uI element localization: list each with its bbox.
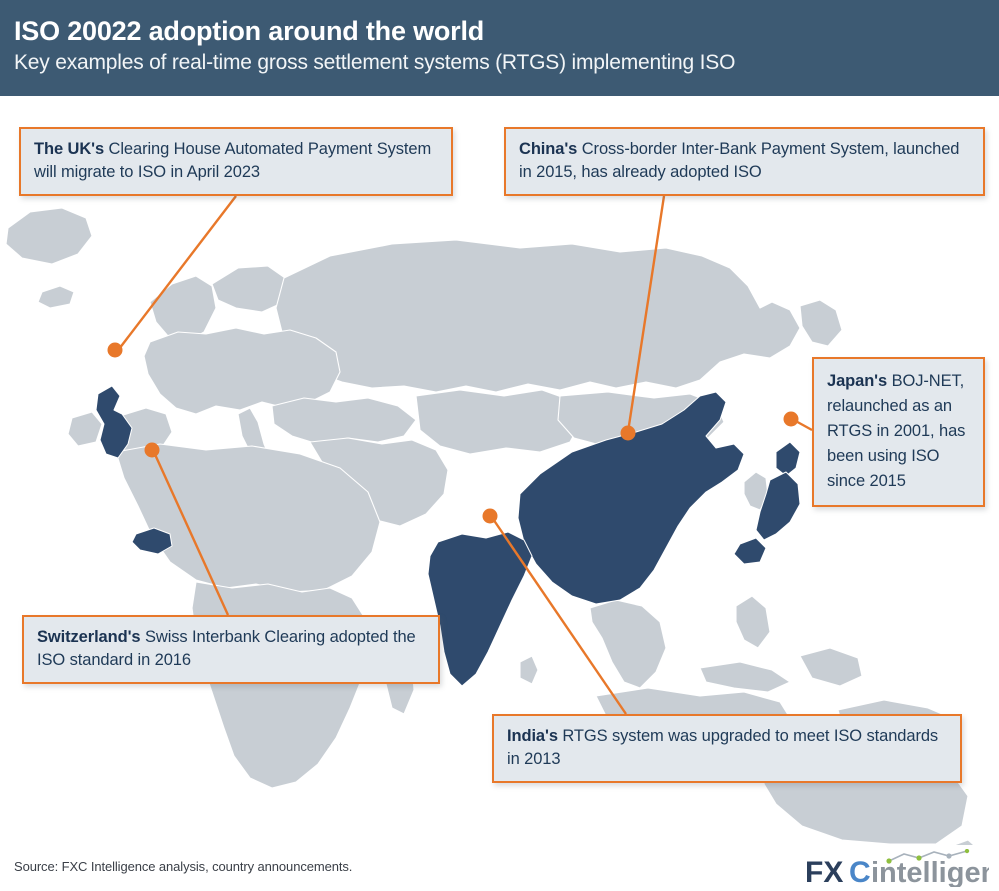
land-ireland (68, 412, 102, 446)
callout-country-india: India's (507, 727, 558, 745)
callout-text-china: Cross-border Inter-Bank Payment System, … (519, 140, 959, 181)
land-central-asia (416, 390, 582, 454)
header-banner: ISO 20022 adoption around the world Key … (0, 0, 999, 96)
callout-box-china[interactable]: China's Cross-border Inter-Bank Payment … (504, 127, 985, 196)
page-subtitle: Key examples of real-time gross settleme… (14, 49, 999, 77)
logo-text-c: C (849, 856, 871, 887)
callout-country-switzerland: Switzerland's (37, 628, 141, 646)
logo-dot-green-3 (965, 849, 969, 853)
logo-text-fx: FX (805, 856, 843, 887)
callout-country-uk: The UK's (34, 140, 104, 158)
callout-box-switzerland[interactable]: Switzerland's Swiss Interbank Clearing a… (22, 615, 440, 684)
callout-country-japan: Japan's (827, 372, 887, 390)
callout-box-japan[interactable]: Japan's BOJ-NET, relaunched as an RTGS i… (812, 357, 985, 507)
footer-bar: Source: FXC Intelligence analysis, count… (0, 845, 999, 891)
callout-box-uk[interactable]: The UK's Clearing House Automated Paymen… (19, 127, 453, 196)
callout-text-india: RTGS system was upgraded to meet ISO sta… (507, 727, 938, 768)
fxc-intelligence-logo: FX C intelligence (771, 849, 989, 887)
source-note: Source: FXC Intelligence analysis, count… (14, 859, 352, 874)
callout-country-china: China's (519, 140, 577, 158)
infographic-root: ISO 20022 adoption around the world Key … (0, 0, 999, 891)
page-title: ISO 20022 adoption around the world (14, 14, 999, 48)
callout-box-india[interactable]: India's RTGS system was upgraded to meet… (492, 714, 962, 783)
logo-text-intelligence: intelligence (871, 857, 989, 887)
